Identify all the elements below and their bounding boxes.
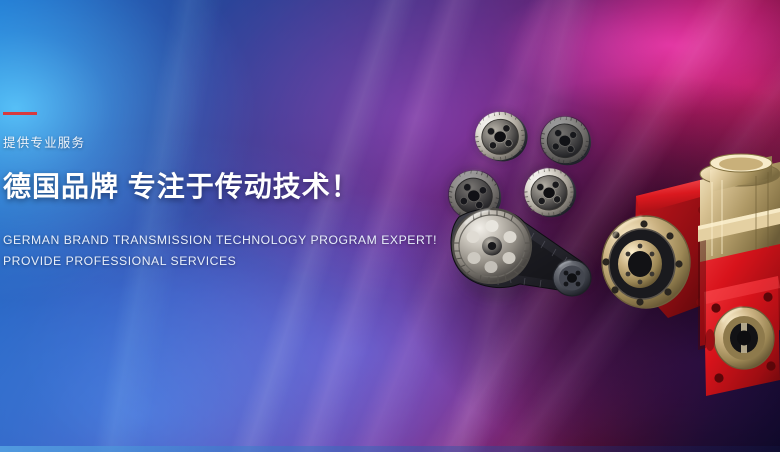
- promo-banner: 提供专业服务 德国品牌 专注于传动技术！ GERMAN BRAND TRANSM…: [0, 0, 780, 452]
- tagline-chinese: 提供专业服务: [3, 137, 433, 150]
- subtitle-english-line1: GERMAN BRAND TRANSMISSION TECHNOLOGY PRO…: [3, 230, 433, 251]
- subtitle-english-line2: PROVIDE PROFESSIONAL SERVICES: [3, 251, 433, 272]
- bottom-light-band: [0, 446, 780, 452]
- headline-chinese: 德国品牌 专注于传动技术！: [3, 172, 433, 202]
- banner-copy: 提供专业服务 德国品牌 专注于传动技术！ GERMAN BRAND TRANSM…: [3, 112, 433, 272]
- subtitle-english: GERMAN BRAND TRANSMISSION TECHNOLOGY PRO…: [3, 230, 433, 272]
- accent-rule: [3, 112, 37, 115]
